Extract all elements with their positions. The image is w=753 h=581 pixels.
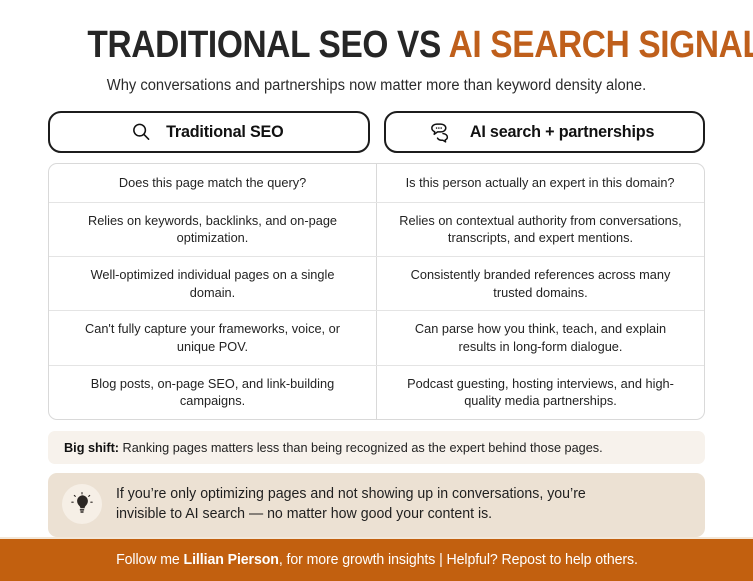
table-row: Does this page match the query? Is this …	[49, 164, 704, 203]
table-cell-traditional: Well-optimized individual pages on a sin…	[49, 257, 377, 310]
footer-suffix: , for more growth insights | Helpful? Re…	[278, 552, 637, 568]
table-cell-traditional: Blog posts, on-page SEO, and link-buildi…	[49, 366, 377, 419]
table-row: Well-optimized individual pages on a sin…	[49, 257, 704, 311]
table-cell-traditional: Relies on keywords, backlinks, and on-pa…	[49, 203, 377, 256]
table-cell-ai: Relies on contextual authority from conv…	[377, 203, 704, 256]
page-title-accent: AI SEARCH SIGNALS	[449, 24, 753, 66]
table-cell-ai: Is this person actually an expert in thi…	[377, 164, 704, 202]
table-row: Blog posts, on-page SEO, and link-buildi…	[49, 366, 704, 419]
footer-author-name: Lillian Pierson	[183, 552, 278, 568]
column-headers: Traditional SEO AI search + partnerships	[48, 111, 705, 153]
speech-bubbles-icon	[430, 121, 454, 143]
table-cell-traditional: Does this page match the query?	[49, 164, 377, 202]
page-subtitle: Why conversations and partnerships now m…	[64, 77, 688, 95]
big-shift-banner: Big shift: Ranking pages matters less th…	[48, 431, 705, 464]
table-cell-ai: Podcast guesting, hosting interviews, an…	[377, 366, 704, 419]
column-header-label: Traditional SEO	[167, 122, 284, 142]
insight-callout-text: If you’re only optimizing pages and not …	[116, 484, 586, 525]
big-shift-text: Ranking pages matters less than being re…	[119, 440, 603, 455]
table-row: Relies on keywords, backlinks, and on-pa…	[49, 203, 704, 257]
table-cell-ai: Consistently branded references across m…	[377, 257, 704, 310]
insight-callout-line-1: If you’re only optimizing pages and not …	[116, 484, 586, 504]
infographic-content: TRADITIONAL SEO VS AI SEARCH SIGNALS Why…	[0, 0, 753, 537]
column-header-label: AI search + partnerships	[470, 122, 654, 142]
page-title-primary: TRADITIONAL SEO VS	[87, 24, 440, 66]
comparison-table: Does this page match the query? Is this …	[48, 163, 705, 420]
footer-bar: Follow me Lillian Pierson, for more grow…	[0, 537, 753, 581]
table-row: Can't fully capture your frameworks, voi…	[49, 311, 704, 365]
insight-callout-line-2: invisible to AI search — no matter how g…	[116, 504, 586, 524]
table-cell-traditional: Can't fully capture your frameworks, voi…	[49, 311, 377, 364]
magnifying-glass-icon	[130, 121, 152, 143]
table-cell-ai: Can parse how you think, teach, and expl…	[377, 311, 704, 364]
insight-callout: If you’re only optimizing pages and not …	[48, 473, 705, 537]
lightbulb-icon	[62, 484, 102, 524]
infographic-page: TRADITIONAL SEO VS AI SEARCH SIGNALS Why…	[0, 0, 753, 561]
column-header-ai-search-partnerships[interactable]: AI search + partnerships	[384, 111, 706, 153]
footer-prefix: Follow me	[116, 552, 183, 568]
page-title: TRADITIONAL SEO VS AI SEARCH SIGNALS	[87, 26, 665, 66]
column-header-traditional-seo[interactable]: Traditional SEO	[48, 111, 370, 153]
big-shift-label: Big shift:	[64, 440, 119, 455]
